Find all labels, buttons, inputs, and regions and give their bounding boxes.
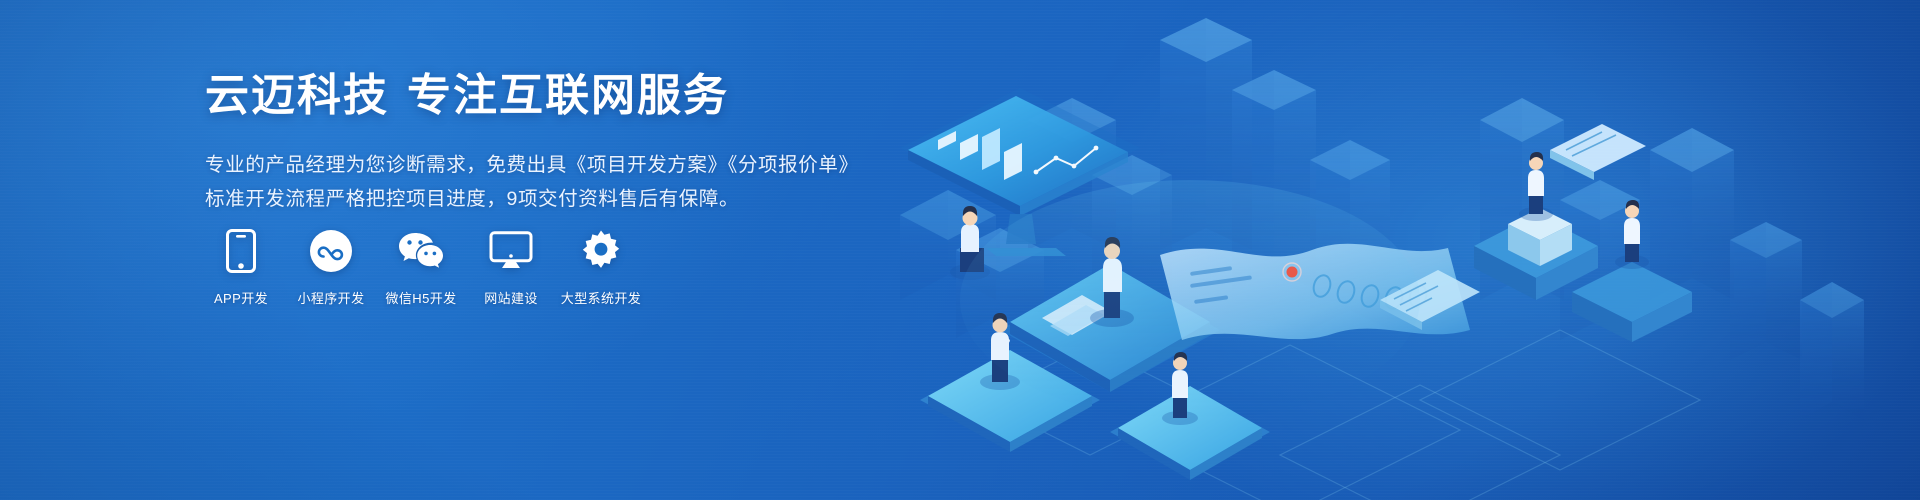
hero-banner: 云迈科技专注互联网服务 专业的产品经理为您诊断需求，免费出具《项目开发方案》《分… xyxy=(0,0,1920,500)
service-label-miniprogram: 小程序开发 xyxy=(297,288,364,307)
service-item-miniprogram[interactable]: 小程序开发 xyxy=(295,228,367,307)
hero-illustration xyxy=(860,0,1920,500)
mobile-phone-icon xyxy=(226,228,256,274)
service-item-system[interactable]: 大型系统开发 xyxy=(565,228,637,307)
service-label-wechat: 微信H5开发 xyxy=(385,288,456,307)
hero-subtitle: 专业的产品经理为您诊断需求，免费出具《项目开发方案》《分项报价单》 标准开发流程… xyxy=(205,148,965,216)
service-item-wechat[interactable]: 微信H5开发 xyxy=(385,228,457,307)
gear-icon xyxy=(579,228,623,274)
monitor-icon xyxy=(489,228,533,274)
service-item-website[interactable]: 网站建设 xyxy=(475,228,547,307)
headline-brand: 云迈科技 xyxy=(205,71,389,120)
page-title: 云迈科技专注互联网服务 xyxy=(205,70,965,122)
service-label-system: 大型系统开发 xyxy=(561,288,641,307)
hero-copy: 云迈科技专注互联网服务 专业的产品经理为您诊断需求，免费出具《项目开发方案》《分… xyxy=(205,70,965,216)
service-list: APP开发 小程序开发 微信 xyxy=(205,228,655,307)
service-item-app[interactable]: APP开发 xyxy=(205,228,277,307)
mini-program-icon xyxy=(309,228,353,274)
subtitle-line-2: 标准开发流程严格把控项目进度，9项交付资料售后有保障。 xyxy=(205,182,965,216)
subtitle-line-1: 专业的产品经理为您诊断需求，免费出具《项目开发方案》《分项报价单》 xyxy=(205,148,965,182)
service-label-app: APP开发 xyxy=(214,288,268,307)
wechat-icon xyxy=(397,228,445,274)
service-label-website: 网站建设 xyxy=(484,288,538,307)
headline-tagline: 专注互联网服务 xyxy=(407,71,729,120)
